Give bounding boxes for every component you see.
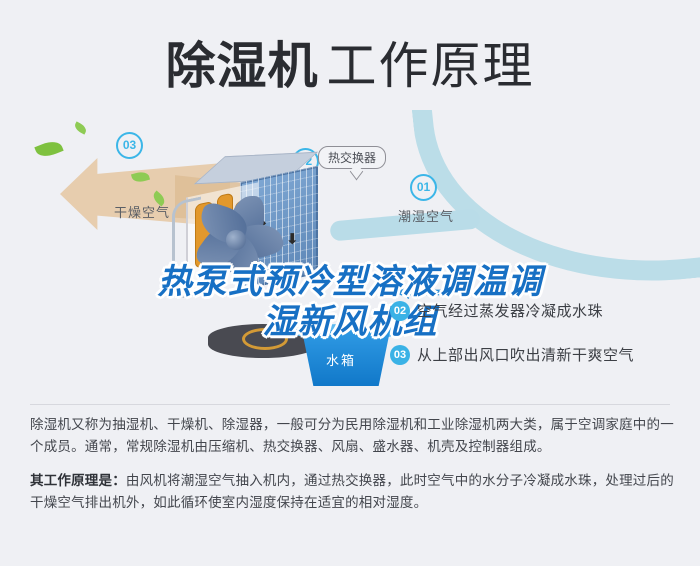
content-divider [30,404,670,405]
body-copy: 除湿机又称为抽湿机、干燥机、除湿器，一般可分为民用除湿机和工业除湿机两大类，属于… [30,414,675,526]
step-badge-03: 03 [390,345,410,365]
page-title-secondary: 工作原理 [327,38,535,94]
step-item-02: 02 空气经过蒸发器冷凝成水珠 [390,300,603,321]
dehumidifier-machine: ➡ ⬇ ⬆ 水箱 [180,138,410,378]
page-title: 除湿机工作原理 [0,26,700,98]
step-item-03: 03 从上部出风口吹出清新干爽空气 [390,344,634,365]
step-text-03: 从上部出风口吹出清新干爽空气 [417,344,634,365]
body-paragraph-2-rest: 由风机将潮湿空气抽入机内，通过热交换器，此时空气中的水分子冷凝成水珠，处理过后的… [30,473,674,510]
machine-base-ring [242,328,288,350]
diagram-badge-03: 03 [116,132,143,159]
body-paragraph-2-lead: 其工作原理是： [30,473,126,488]
leaf-icon [34,138,63,161]
diagram-badge-01: 01 [410,174,437,201]
page-title-primary: 除湿机 [166,38,319,94]
dry-air-label: 干燥空气 [114,202,170,221]
body-paragraph-2: 其工作原理是：由风机将潮湿空气抽入机内，通过热交换器，此时空气中的水分子冷凝成水… [30,470,675,514]
fan-icon [190,186,286,282]
fan-hub [226,230,246,250]
water-tank-label: 水箱 [326,350,356,369]
flow-arrow-down-icon: ⬇ [286,232,299,247]
step-badge-02: 02 [390,301,410,321]
body-paragraph-1: 除湿机又称为抽湿机、干燥机、除湿器，一般可分为民用除湿机和工业除湿机两大类，属于… [30,414,675,458]
leaf-icon [73,121,88,134]
step-text-02: 空气经过蒸发器冷凝成水珠 [417,300,603,321]
page-root: { "header": { "title_bold": "除湿机", "titl… [0,0,700,566]
